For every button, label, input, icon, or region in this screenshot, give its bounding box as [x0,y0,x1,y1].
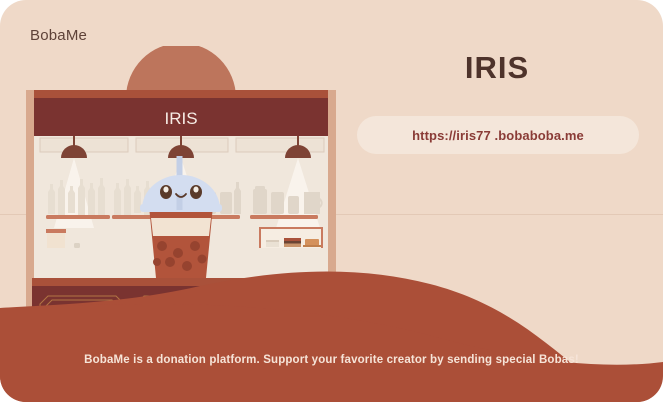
bobame-creator-card: BobaMe IRIS https://iris77 .bobaboba.me [0,0,663,402]
brand-label: BobaMe [30,27,87,44]
shop-sign-text: IRIS [164,109,197,128]
creator-name: IRIS [347,50,647,86]
creator-url-text: https://iris77 .bobaboba.me [412,128,584,143]
shelf-left [46,215,110,219]
footer-tagline: BobaMe is a donation platform. Support y… [0,354,663,366]
shelf-right [250,215,318,219]
decorative-wave [0,242,663,402]
creator-url-pill[interactable]: https://iris77 .bobaboba.me [357,116,639,154]
